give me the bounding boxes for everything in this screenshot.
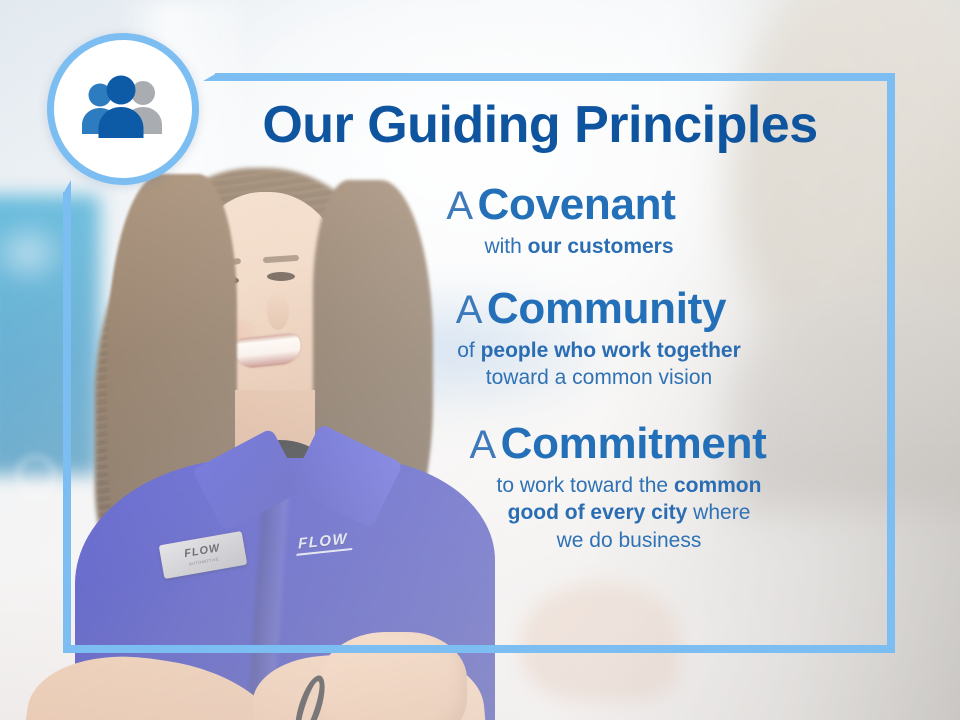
principle-subtext: to work toward the commongood of every c… (368, 472, 890, 554)
subtext-emphasis: our customers (528, 235, 674, 258)
blurred-customer-hand (520, 582, 680, 702)
principle-subtext: of people who work togethertoward a comm… (308, 337, 890, 392)
principle-keyword: Covenant (478, 180, 676, 229)
subtext-emphasis: good of every city (508, 501, 688, 524)
principles-list: A Covenant with our customers A Communit… (250, 182, 890, 560)
subtext-run: with (484, 235, 527, 258)
principle-heading: A Commitment (346, 421, 890, 467)
subtext-run: toward a common vision (486, 366, 712, 389)
principle-heading: A Community (292, 286, 890, 332)
principle-keyword: Commitment (501, 419, 767, 468)
principle-subtext-line: we do business (368, 527, 890, 554)
principle-subtext-line: of people who work together (308, 337, 890, 364)
headline-block: Our Guiding Principles (0, 0, 960, 151)
principle-article: A (446, 184, 473, 228)
associate-clasped-hands (317, 632, 467, 720)
principle-subtext: with our customers (268, 233, 890, 260)
principle-item: A Commitment to work toward the commongo… (346, 421, 890, 554)
principle-keyword: Community (487, 284, 726, 333)
subtext-run: where (687, 501, 750, 524)
principle-heading: A Covenant (232, 182, 890, 228)
principle-subtext-line: good of every city where (368, 499, 890, 526)
page-title: Our Guiding Principles (120, 99, 960, 151)
subtext-run: to work toward the (497, 474, 674, 497)
guiding-principles-poster: FLOW AUTOMOTIVE FLOW (0, 0, 960, 720)
principle-article: A (469, 423, 496, 467)
principle-item: A Covenant with our customers (232, 182, 890, 260)
principle-article: A (456, 288, 483, 332)
subtext-emphasis: common (674, 474, 762, 497)
principle-subtext-line: with our customers (268, 233, 890, 260)
subtext-run: we do business (557, 529, 702, 552)
principle-subtext-line: toward a common vision (308, 364, 890, 391)
subtext-run: of (457, 339, 480, 362)
background-brand-emblem (16, 455, 56, 495)
principle-subtext-line: to work toward the common (368, 472, 890, 499)
principle-item: A Community of people who work togethert… (292, 286, 890, 391)
subtext-emphasis: people who work together (481, 339, 741, 362)
